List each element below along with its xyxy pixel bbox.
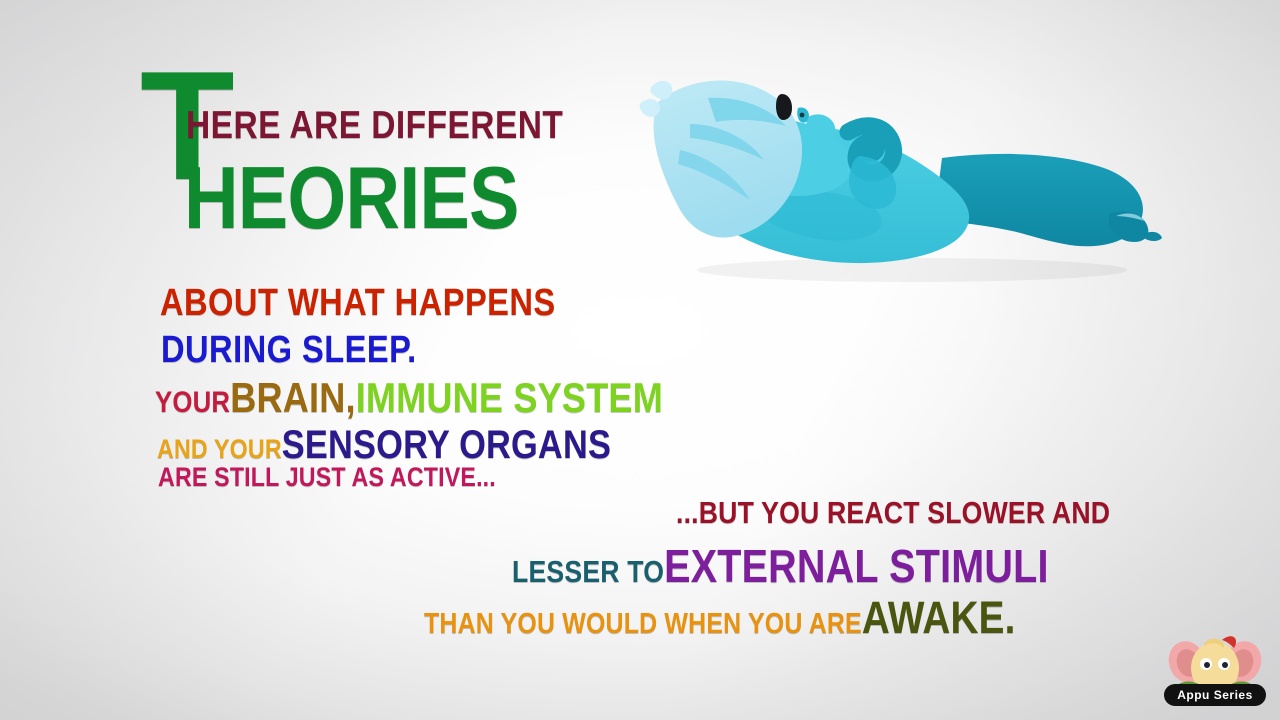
- brand-badge: Appu Series: [1164, 684, 1266, 706]
- heading-line-during: DURING SLEEP.: [161, 331, 417, 369]
- text-awake: AWAKE.: [862, 595, 1016, 640]
- middle-line-sensory: AND YOUR SENSORY ORGANS: [157, 425, 611, 465]
- elephant-eye-closed: [776, 94, 792, 120]
- video-frame: T HERE ARE DIFFERENT HEORIES ABOUT WHAT …: [0, 0, 1280, 720]
- text-your: YOUR: [155, 388, 230, 418]
- elephant-eye-dot: [800, 113, 805, 118]
- heading-line-theories: HEORIES: [184, 154, 519, 242]
- appu-series-logo[interactable]: Appu Series: [1160, 628, 1270, 710]
- heading-line-about: ABOUT WHAT HAPPENS: [160, 284, 556, 322]
- elephant-tuft-2: [640, 99, 660, 117]
- text-external-stimuli: EXTERNAL STIMULI: [664, 543, 1048, 589]
- text-immune-system: IMMUNE SYSTEM: [356, 377, 663, 419]
- mascot-pupil-left: [1204, 662, 1210, 668]
- lower-line-than: THAN YOU WOULD WHEN YOU ARE AWAKE.: [424, 595, 1016, 640]
- middle-line-active: ARE STILL JUST AS ACTIVE...: [158, 464, 496, 491]
- text-and-your: AND YOUR: [157, 436, 282, 463]
- text-brain: BRAIN,: [230, 377, 355, 419]
- text-than-you-would: THAN YOU WOULD WHEN YOU ARE: [424, 610, 862, 639]
- text-sensory-organs: SENSORY ORGANS: [282, 425, 611, 465]
- elephant-snout: [806, 114, 836, 146]
- middle-line-brain: YOUR BRAIN, IMMUNE SYSTEM: [155, 377, 663, 419]
- elephant-tail: [1144, 232, 1162, 241]
- mascot-pupil-right: [1222, 662, 1228, 668]
- text-lesser-to: LESSER TO: [512, 556, 664, 587]
- elephant-shadow: [697, 258, 1127, 282]
- heading-line-there: HERE ARE DIFFERENT: [186, 106, 563, 145]
- elephant-tuft-1: [650, 81, 672, 99]
- elephant-hind-body: [934, 154, 1143, 246]
- lower-line-but: ...BUT YOU REACT SLOWER AND: [676, 497, 1110, 528]
- lower-line-lesser: LESSER TO EXTERNAL STIMULI: [512, 543, 1049, 589]
- sleeping-elephant-illustration: [612, 58, 1172, 293]
